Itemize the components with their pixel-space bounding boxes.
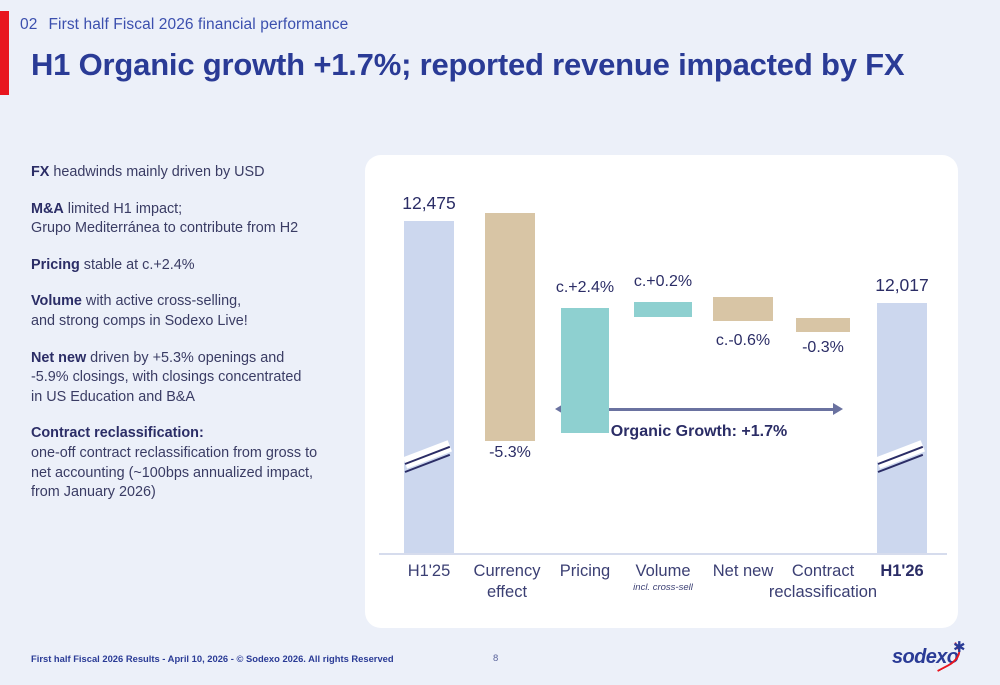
insight-item: M&A limited H1 impact;Grupo Mediterránea…	[31, 200, 349, 239]
insight-item: Net new driven by +5.3% openings and-5.9…	[31, 349, 349, 408]
bar-volume[interactable]	[634, 302, 692, 317]
insight-lead: Contract reclassification:	[31, 425, 204, 441]
insight-text: with active cross-selling,	[82, 293, 241, 309]
arrow-head-right-icon	[833, 403, 843, 415]
bar-pricing[interactable]	[561, 308, 609, 433]
insights-list: FX headwinds mainly driven by USDM&A lim…	[31, 163, 349, 503]
insight-item: Contract reclassification:one-off contra…	[31, 424, 349, 502]
x-axis-sublabel: incl. cross-sell	[615, 582, 711, 594]
bar-value-label: -0.3%	[753, 339, 893, 357]
x-axis-label-text: Pricing	[560, 562, 610, 580]
bar-value-label: -5.3%	[440, 444, 580, 462]
insight-lead: Pricing	[31, 257, 80, 273]
insight-lead: M&A	[31, 201, 64, 217]
insight-text: stable at c.+2.4%	[80, 257, 195, 273]
insight-item: Pricing stable at c.+2.4%	[31, 256, 349, 276]
insight-lead: FX	[31, 164, 49, 180]
page-number: 8	[493, 653, 498, 664]
bar-currency-effect[interactable]	[485, 213, 535, 441]
insight-text: headwinds mainly driven by USD	[49, 164, 264, 180]
waterfall-chart: Organic Growth: +1.7% 12,475H1'25-5.3%Cu…	[365, 155, 958, 628]
insight-text: limited H1 impact;	[64, 201, 182, 217]
bar-net-new[interactable]	[713, 297, 773, 321]
insight-text: net accounting (~100bps annualized impac…	[31, 465, 313, 481]
section-title: First half Fiscal 2026 financial perform…	[48, 16, 348, 33]
insight-text: and strong comps in Sodexo Live!	[31, 313, 248, 329]
x-axis-label-text: Net new	[713, 562, 774, 580]
axis-break-icon	[878, 443, 926, 473]
logo-star-icon: ✱	[953, 640, 966, 655]
x-axis-label-text: H1'26	[880, 562, 923, 580]
chart-card: Organic Growth: +1.7% 12,475H1'25-5.3%Cu…	[365, 155, 958, 628]
chart-baseline	[379, 553, 947, 555]
section-accent-bar	[0, 11, 9, 95]
footer-copyright: First half Fiscal 2026 Results - April 1…	[31, 653, 394, 664]
insight-text: one-off contract reclassification from g…	[31, 445, 317, 461]
sodexo-logo: sodexo ✱	[892, 640, 970, 672]
insight-lead: Volume	[31, 293, 82, 309]
bar-value-label: 12,017	[832, 275, 972, 296]
insight-text: in US Education and B&A	[31, 389, 195, 405]
insight-item: Volume with active cross-selling,and str…	[31, 292, 349, 331]
bar-contract-reclassification[interactable]	[796, 318, 850, 332]
section-number: 02	[20, 16, 37, 33]
bar-value-label: c.+0.2%	[593, 273, 733, 291]
insight-text: -5.9% closings, with closings concentrat…	[31, 369, 301, 385]
x-axis-label-text: Volume	[635, 562, 690, 580]
bar-h1-25[interactable]	[404, 221, 454, 553]
breadcrumb: 02First half Fiscal 2026 financial perfo…	[20, 16, 348, 34]
insight-text: driven by +5.3% openings and	[86, 350, 284, 366]
insight-item: FX headwinds mainly driven by USD	[31, 163, 349, 183]
page-title: H1 Organic growth +1.7%; reported revenu…	[31, 47, 904, 83]
x-axis-label-text: H1'25	[408, 562, 451, 580]
x-axis-label: H1'26	[857, 561, 947, 582]
bar-h1-26[interactable]	[877, 303, 927, 553]
bar-value-label: 12,475	[359, 193, 499, 214]
insight-text: from January 2026)	[31, 484, 156, 500]
insight-text: Grupo Mediterránea to contribute from H2	[31, 220, 298, 236]
x-axis-label-text: Currency effect	[474, 562, 541, 601]
insight-lead: Net new	[31, 350, 86, 366]
